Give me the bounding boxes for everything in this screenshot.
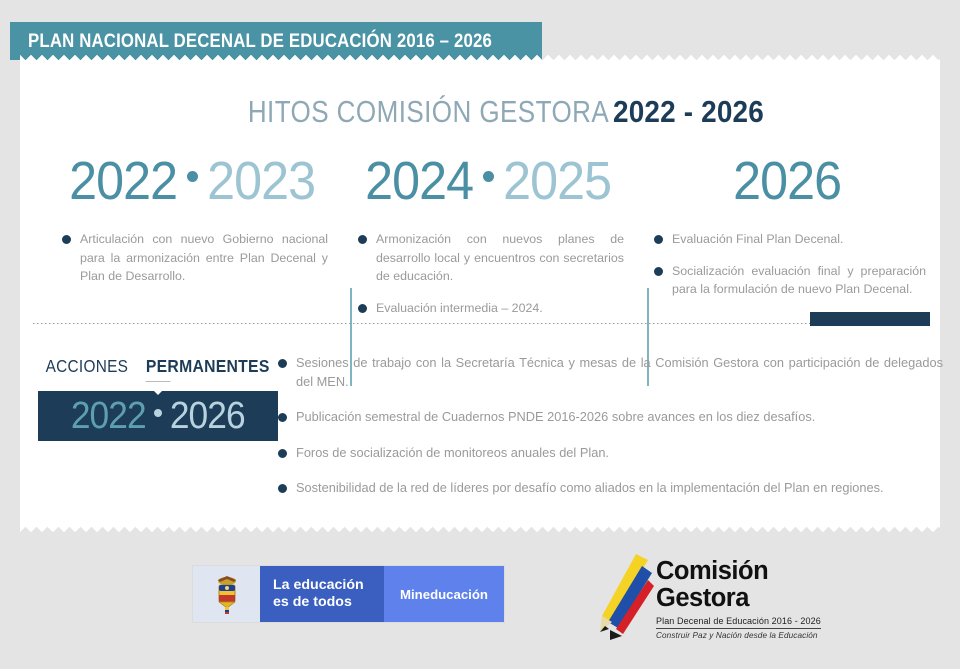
list-item: Publicación semestral de Cuadernos PNDE … xyxy=(278,408,943,427)
list-item: Sostenibilidad de la red de líderes por … xyxy=(278,479,943,498)
infographic-page: PLAN NACIONAL DECENAL DE EDUCACIÓN 2016 … xyxy=(0,0,960,669)
milestone-column-2024-2025: 2024 2025 Armonización con nuevos planes… xyxy=(338,144,638,330)
list-item-text: Evaluación intermedia – 2024. xyxy=(376,299,543,318)
ministry-label: Mineducación xyxy=(384,566,504,622)
milestone-column-2026: 2026 Evaluación Final Plan Decenal. Soci… xyxy=(634,144,940,312)
logo-name-line1: Comisión xyxy=(656,558,821,585)
section-divider xyxy=(33,322,925,324)
bullet-dot-icon xyxy=(278,359,287,368)
card-bottom-zigzag-edge xyxy=(20,521,940,532)
column-bullet-list: Armonización con nuevos planes de desarr… xyxy=(338,230,638,317)
year-end: 2026 xyxy=(170,395,245,438)
list-item-text: Armonización con nuevos planes de desarr… xyxy=(376,230,624,286)
bullet-dot-icon xyxy=(358,304,367,313)
column-year-label: 2022 2023 xyxy=(42,144,342,218)
bullet-dot-icon xyxy=(654,267,663,276)
permanent-actions-label: ACCIONES PERMANENTES 2022 2026 xyxy=(38,356,278,441)
permanent-actions-list: Sesiones de trabajo con la Secretaría Té… xyxy=(278,354,943,515)
triangle-down-icon xyxy=(145,382,171,395)
pencil-flag-icon xyxy=(592,552,654,640)
year-start: 2022 xyxy=(71,395,146,438)
list-item-text: Articulación con nuevo Gobierno nacional… xyxy=(80,230,328,286)
list-item: Armonización con nuevos planes de desarr… xyxy=(358,230,624,286)
milestone-columns: 2022 2023 Articulación con nuevo Gobiern… xyxy=(20,144,940,324)
education-slogan: La educación es de todos xyxy=(260,566,384,622)
bullet-dot-icon xyxy=(278,484,287,493)
divider-accent-bar xyxy=(810,312,930,326)
list-item-text: Sostenibilidad de la red de líderes por … xyxy=(296,479,884,498)
column-year-label: 2026 xyxy=(634,144,940,218)
year-end: 2023 xyxy=(207,154,315,208)
list-item: Evaluación Final Plan Decenal. xyxy=(654,230,926,249)
logo-subtitle: Plan Decenal de Educación 2016 - 2026 xyxy=(656,616,821,629)
permanent-actions-title: ACCIONES PERMANENTES xyxy=(38,356,278,377)
year-start: 2022 xyxy=(69,154,177,208)
year-start: 2026 xyxy=(733,154,841,208)
comision-gestora-logo: Comisión Gestora Plan Decenal de Educaci… xyxy=(592,552,857,644)
bullet-dot-icon xyxy=(654,235,663,244)
page-title-bold: 2022 - 2026 xyxy=(613,94,764,130)
page-title-light: HITOS COMISIÓN GESTORA xyxy=(248,94,609,130)
bullet-dot-icon xyxy=(278,449,287,458)
year-end: 2025 xyxy=(503,154,611,208)
list-item-text: Socialización evaluación final y prepara… xyxy=(672,262,926,299)
content-card: HITOS COMISIÓN GESTORA2022 - 2026 2022 2… xyxy=(20,66,940,521)
list-item-text: Foros de socialización de monitoreos anu… xyxy=(296,444,609,463)
column-bullet-list: Evaluación Final Plan Decenal. Socializa… xyxy=(634,230,940,299)
list-item: Evaluación intermedia – 2024. xyxy=(358,299,624,318)
milestone-column-2022-2023: 2022 2023 Articulación con nuevo Gobiern… xyxy=(42,144,342,299)
colombia-coat-of-arms-icon xyxy=(193,566,260,622)
bullet-dot-icon xyxy=(278,413,287,422)
permanent-actions-title-light: ACCIONES xyxy=(45,356,128,377)
column-year-label: 2024 2025 xyxy=(338,144,638,218)
header-banner-title: PLAN NACIONAL DECENAL DE EDUCACIÓN 2016 … xyxy=(10,30,492,53)
permanent-actions-year-box: 2022 2026 xyxy=(38,391,278,441)
list-item: Socialización evaluación final y prepara… xyxy=(654,262,926,299)
card-top-zigzag-edge xyxy=(20,55,940,66)
logo-tagline: Construir Paz y Nación desde la Educació… xyxy=(656,631,821,640)
education-slogan-line1: La educación xyxy=(273,577,384,594)
year-start: 2024 xyxy=(365,154,473,208)
list-item-text: Evaluación Final Plan Decenal. xyxy=(672,230,844,249)
comision-gestora-wordmark: Comisión Gestora Plan Decenal de Educaci… xyxy=(656,558,821,640)
list-item: Articulación con nuevo Gobierno nacional… xyxy=(62,230,328,286)
education-slogan-line2: es de todos xyxy=(273,594,384,611)
year-separator-dot xyxy=(154,409,162,417)
column-bullet-list: Articulación con nuevo Gobierno nacional… xyxy=(42,230,342,286)
list-item: Sesiones de trabajo con la Secretaría Té… xyxy=(278,354,943,391)
list-item: Foros de socialización de monitoreos anu… xyxy=(278,444,943,463)
list-item-text: Sesiones de trabajo con la Secretaría Té… xyxy=(296,354,943,391)
page-title: HITOS COMISIÓN GESTORA2022 - 2026 xyxy=(20,94,940,130)
year-separator-dot xyxy=(187,171,198,182)
permanent-actions-title-bold: PERMANENTES xyxy=(146,356,270,377)
bullet-dot-icon xyxy=(62,235,71,244)
list-item-text: Publicación semestral de Cuadernos PNDE … xyxy=(296,408,815,427)
logo-name-line2: Gestora xyxy=(656,585,821,612)
government-logo: La educación es de todos Mineducación xyxy=(193,566,504,622)
bullet-dot-icon xyxy=(358,235,367,244)
year-separator-dot xyxy=(483,171,494,182)
